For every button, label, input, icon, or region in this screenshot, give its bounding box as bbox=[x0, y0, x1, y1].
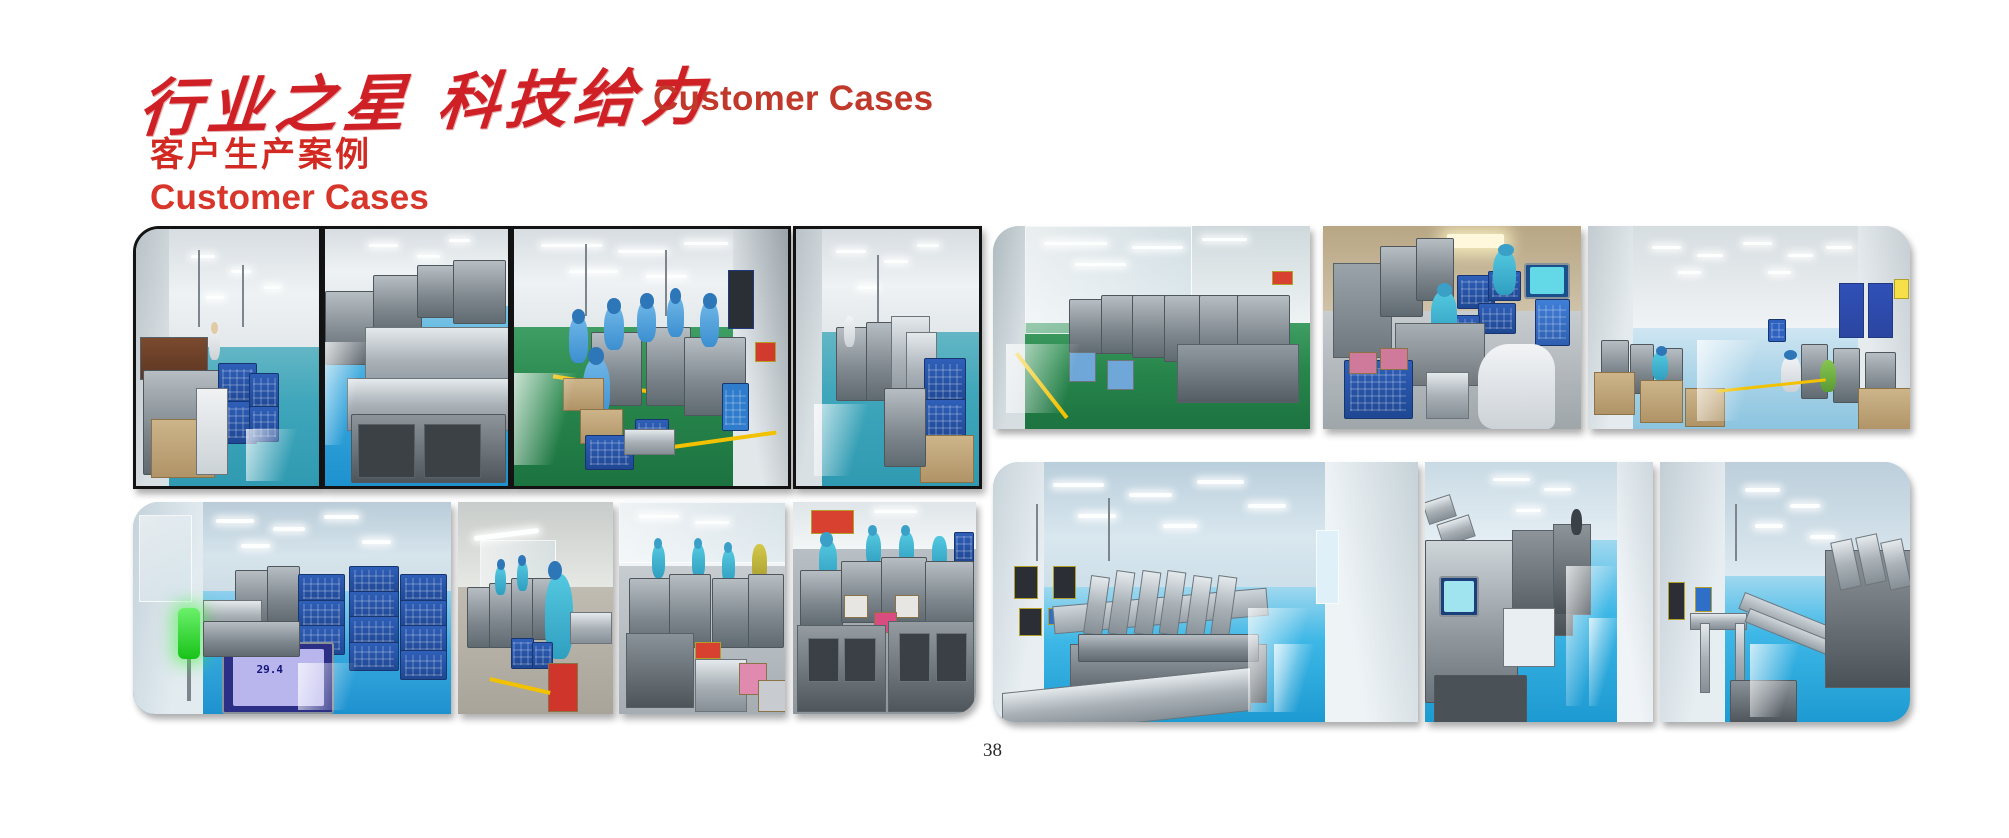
photo-4[interactable] bbox=[793, 226, 982, 489]
photo-3-scene bbox=[514, 229, 788, 486]
photo-8[interactable]: 29.4 bbox=[133, 502, 451, 714]
photo-12-scene bbox=[993, 462, 1418, 722]
photo-1[interactable] bbox=[133, 226, 322, 489]
photo-11-scene bbox=[793, 502, 976, 714]
photo-3[interactable] bbox=[511, 226, 791, 489]
photo-9-scene bbox=[458, 502, 613, 714]
photo-14-scene bbox=[1660, 462, 1910, 722]
photo-6-scene bbox=[1323, 226, 1581, 429]
photo-11[interactable] bbox=[793, 502, 976, 714]
hmi-value: 29.4 bbox=[256, 663, 283, 676]
photo-5-scene bbox=[993, 226, 1310, 429]
page-number: 38 bbox=[0, 740, 2009, 762]
slide-root: 行业之星科技给力 Customer Cases 客户生产案例 Customer … bbox=[0, 0, 2009, 838]
photo-10[interactable] bbox=[619, 502, 785, 714]
photo-12[interactable] bbox=[993, 462, 1418, 722]
photo-13[interactable] bbox=[1425, 462, 1653, 722]
photo-13-scene bbox=[1425, 462, 1653, 722]
photo-gallery: 29.4 bbox=[0, 0, 2009, 838]
photo-2-scene bbox=[325, 229, 508, 486]
photo-14[interactable] bbox=[1660, 462, 1910, 722]
signal-tower-green bbox=[178, 608, 200, 659]
photo-8-scene: 29.4 bbox=[133, 502, 451, 714]
photo-6[interactable] bbox=[1323, 226, 1581, 429]
photo-5[interactable] bbox=[993, 226, 1310, 429]
photo-9[interactable] bbox=[458, 502, 613, 714]
photo-7-scene bbox=[1588, 226, 1910, 429]
photo-10-scene bbox=[619, 502, 785, 714]
photo-4-scene bbox=[796, 229, 979, 486]
page-number-value: 38 bbox=[983, 740, 1002, 761]
photo-1-scene bbox=[136, 229, 319, 486]
photo-2[interactable] bbox=[322, 226, 511, 489]
photo-7[interactable] bbox=[1588, 226, 1910, 429]
